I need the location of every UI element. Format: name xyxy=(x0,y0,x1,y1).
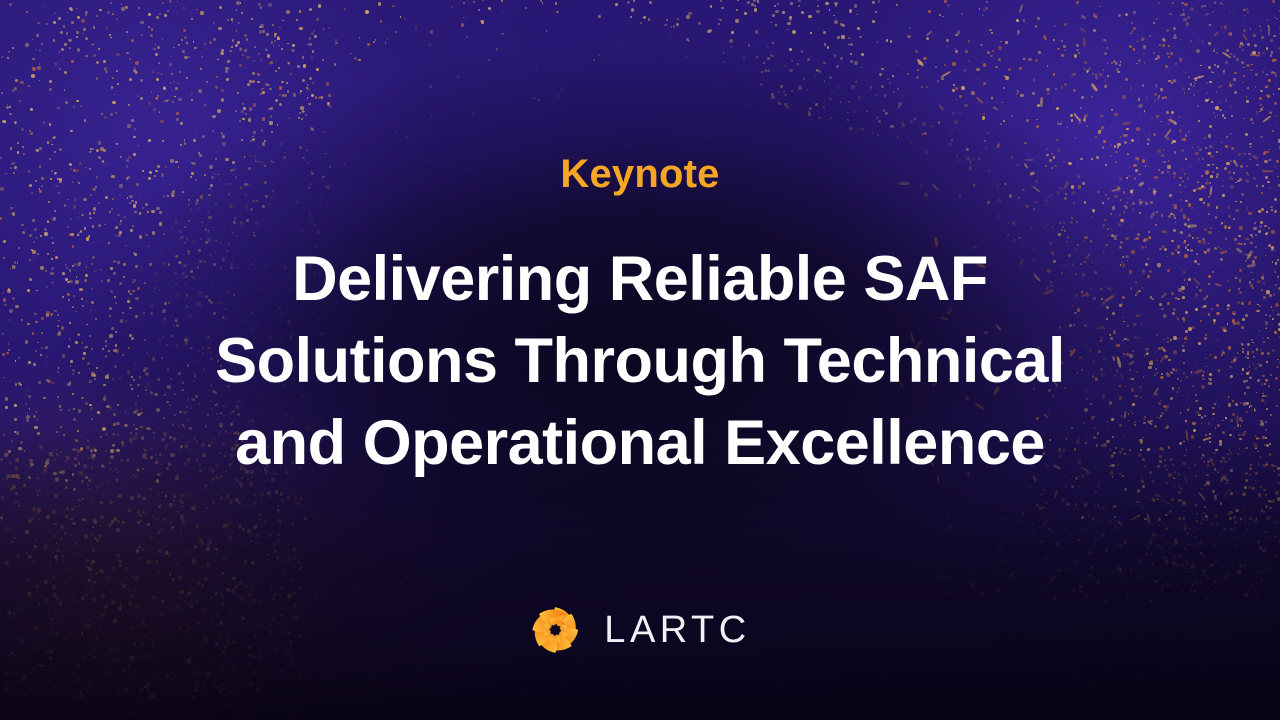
title-line-1: Delivering Reliable SAF xyxy=(110,238,1170,320)
title-line-2: Solutions Through Technical xyxy=(110,320,1170,402)
lartc-logo-lockup: LARTC xyxy=(529,604,750,656)
slide-eyebrow-label: Keynote xyxy=(0,152,1280,196)
swirl-pinwheel-icon xyxy=(529,604,581,656)
keynote-slide: Keynote Delivering Reliable SAF Solution… xyxy=(0,0,1280,720)
slide-title: Delivering Reliable SAF Solutions Throug… xyxy=(110,238,1170,484)
lartc-wordmark: LARTC xyxy=(604,611,750,649)
title-line-3: and Operational Excellence xyxy=(110,402,1170,484)
slide-content: Keynote Delivering Reliable SAF Solution… xyxy=(0,0,1280,720)
